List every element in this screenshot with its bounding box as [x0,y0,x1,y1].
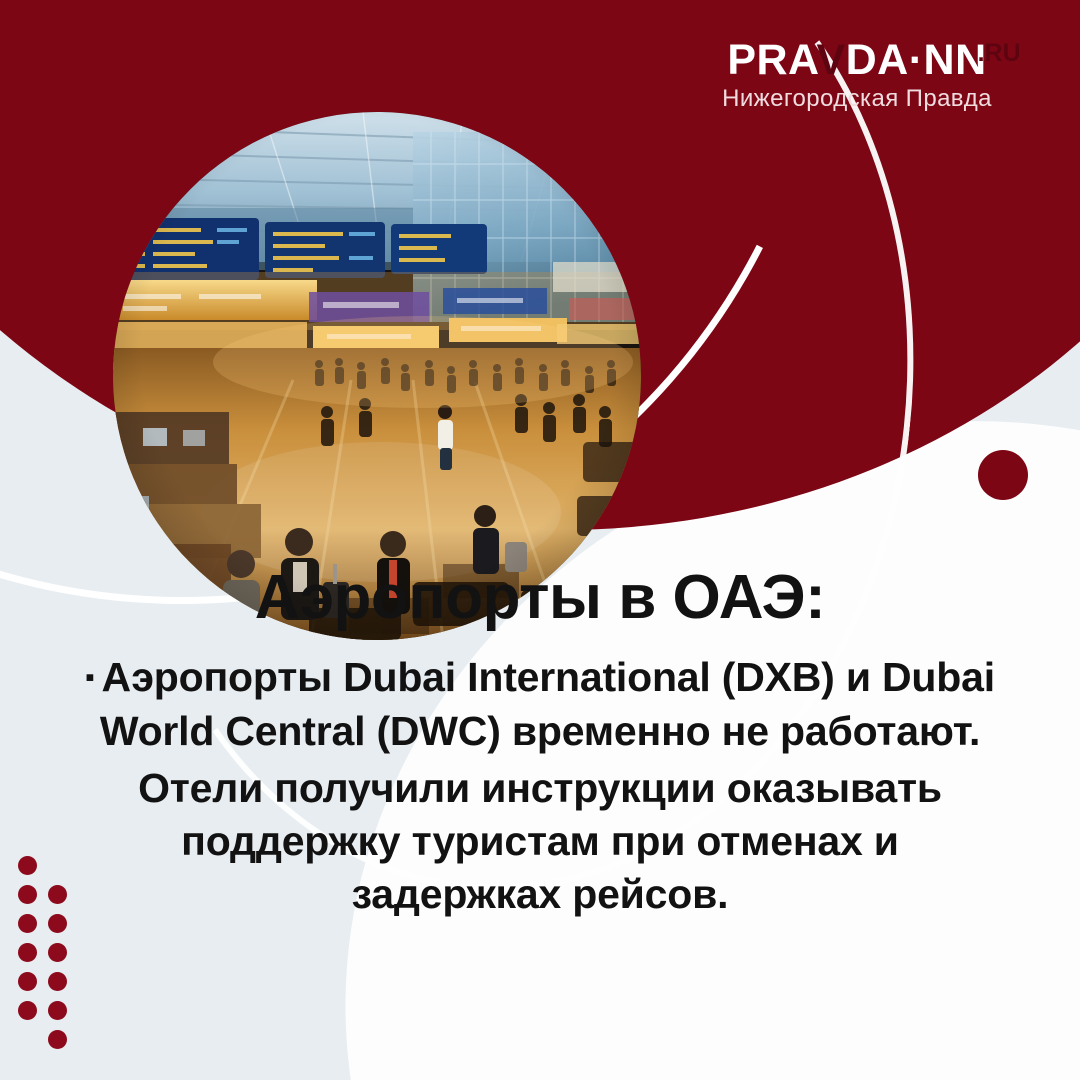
dot [48,1030,67,1049]
logo-tld: .RU [978,40,1021,66]
airport-photo [113,112,641,640]
logo-wordmark-left: PRA [727,36,816,84]
body-paragraph-1-text: Аэропорты Dubai International (DXB) и Du… [100,654,995,753]
dot [48,1001,67,1020]
dot [18,1001,37,1020]
bullet-glyph: ▪ [85,662,94,692]
body-paragraph-2: Отели получили инструкции оказывать подд… [0,762,1080,922]
logo-wordmark-right: DA·NN [846,36,987,84]
body-paragraph-1: ▪Аэропорты Dubai International (DXB) и D… [0,651,1080,758]
logo-wordmark: PRAVDA·NN.RU [727,38,986,83]
page-title: Аэропорты в ОАЭ: [0,566,1080,629]
accent-circle [978,450,1028,500]
text-content: Аэропорты в ОАЭ: ▪Аэропорты Dubai Intern… [0,566,1080,922]
logo-slash-glyph: V [816,36,845,84]
dot [48,943,67,962]
dot [18,972,37,991]
dot [18,943,37,962]
brand-logo[interactable]: PRAVDA·NN.RU Нижегородская Правда [692,38,1022,113]
logo-subtitle: Нижегородская Правда [692,85,1022,113]
airport-photo-graphic [113,112,641,640]
dot [48,972,67,991]
social-card: PRAVDA·NN.RU Нижегородская Правда [0,0,1080,1080]
